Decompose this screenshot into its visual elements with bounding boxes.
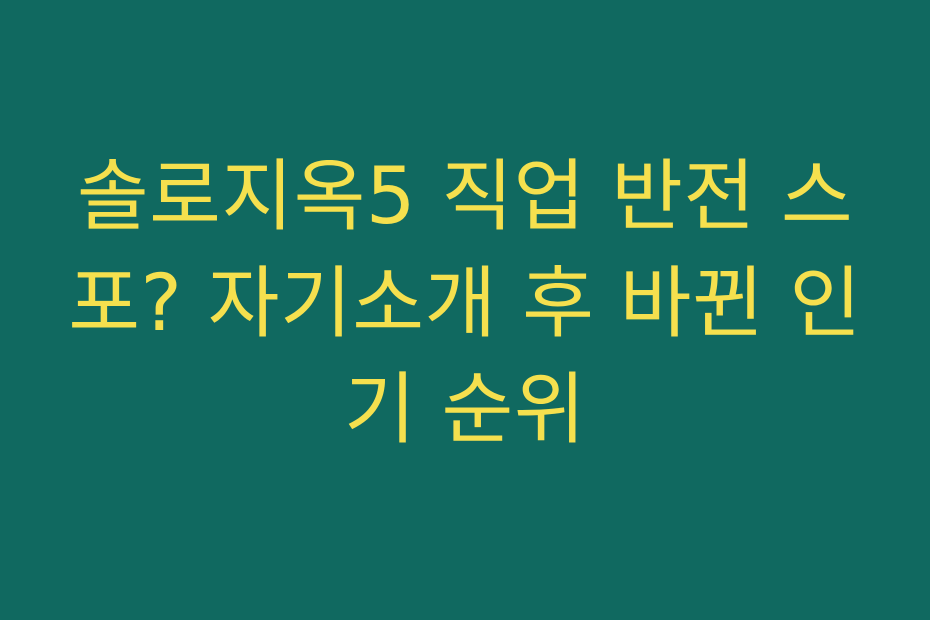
- thumbnail-card: 솔로지옥5 직업 반전 스 포? 자기소개 후 바뀐 인 기 순위: [0, 0, 930, 620]
- page-title: 솔로지옥5 직업 반전 스 포? 자기소개 후 바뀐 인 기 순위: [60, 144, 870, 465]
- title-line-2: 포? 자기소개 후 바뀐 인: [60, 251, 870, 358]
- title-line-3: 기 순위: [60, 357, 870, 464]
- title-line-1: 솔로지옥5 직업 반전 스: [60, 144, 870, 251]
